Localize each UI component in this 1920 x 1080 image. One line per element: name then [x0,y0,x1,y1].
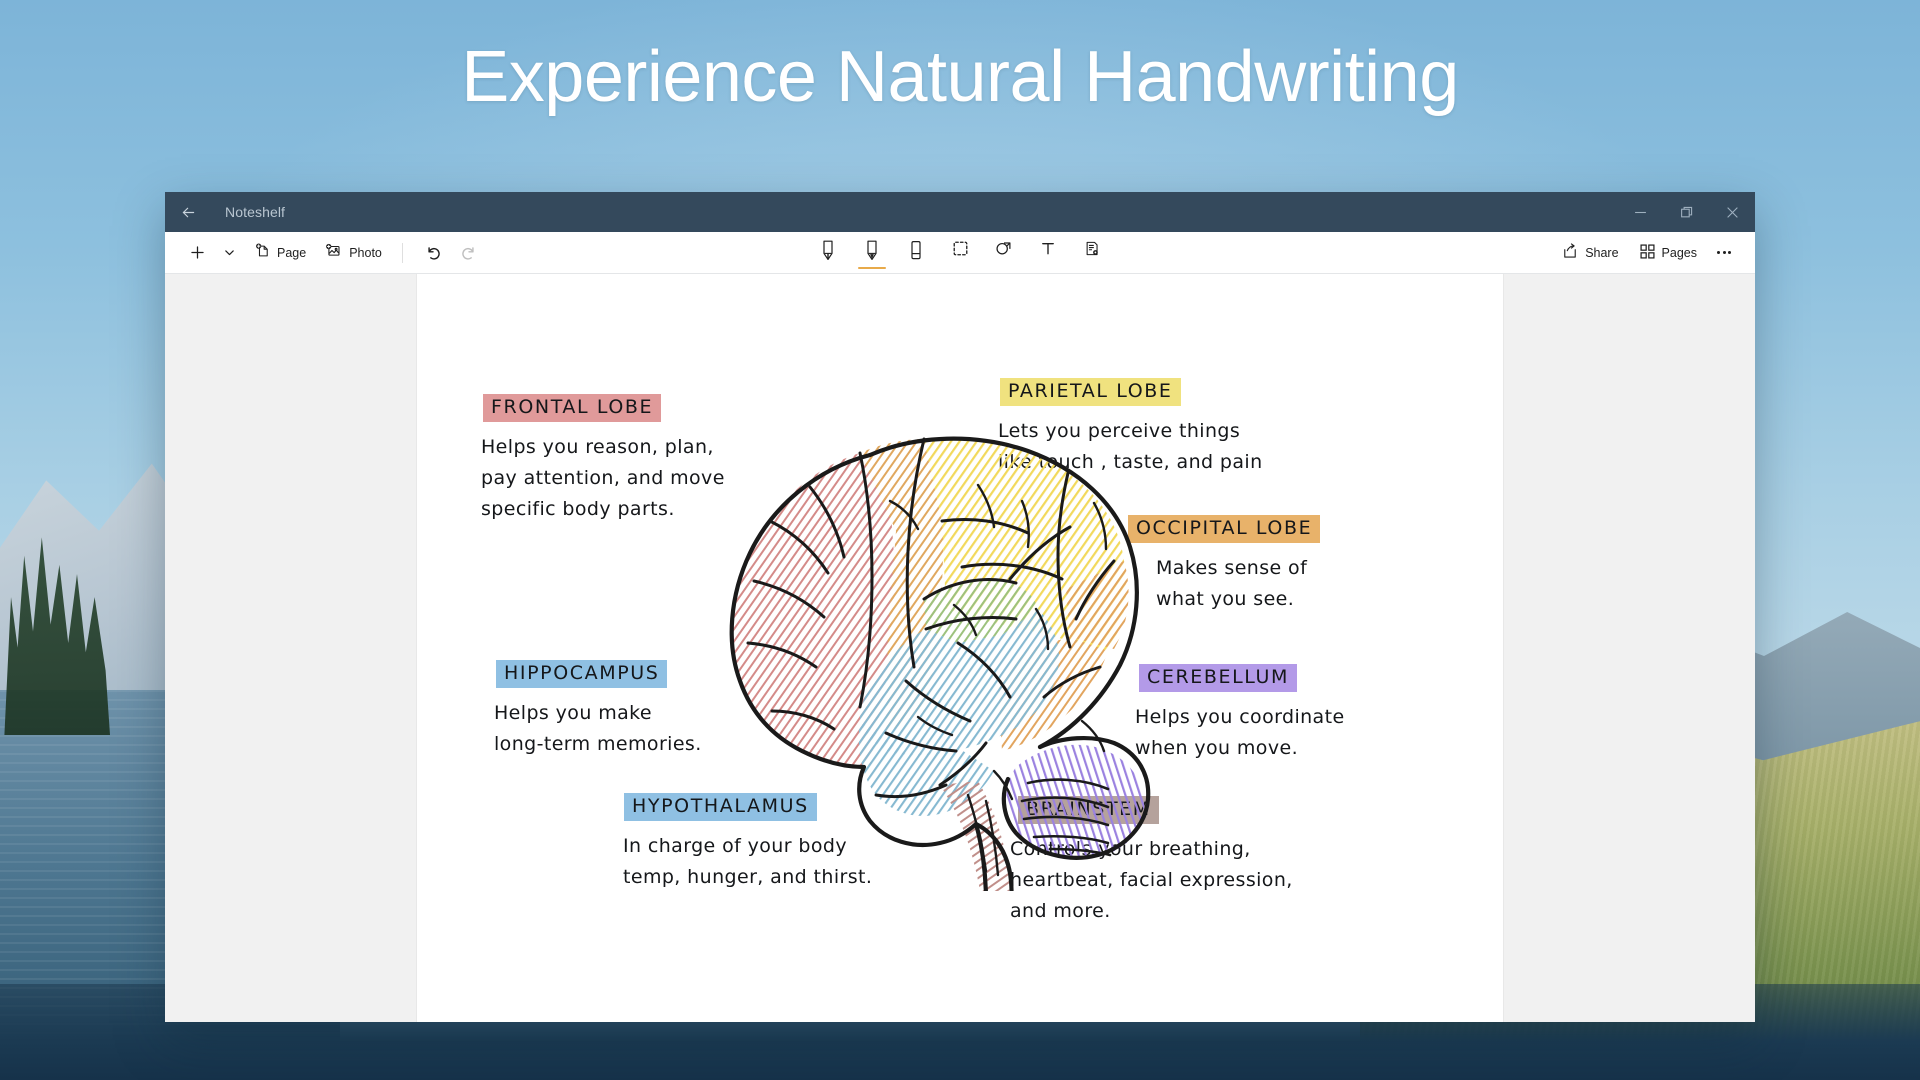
pages-label: Pages [1662,246,1697,260]
app-window: Noteshelf [165,192,1755,1022]
note-icon [1083,239,1101,263]
eraser-tool[interactable] [899,234,933,272]
highlighter-tool[interactable] [855,234,889,272]
add-button[interactable] [181,236,214,270]
canvas-area[interactable]: FRONTAL LOBE Helps you reason, plan, pay… [165,274,1755,1022]
label-frontal-lobe: FRONTAL LOBE [483,394,661,422]
redo-button[interactable] [452,236,487,270]
undo-button[interactable] [415,236,450,270]
lasso-select-icon [951,239,970,263]
toolbar-right-group: Share Pages [1553,236,1739,270]
brain-diagram [710,381,1210,891]
share-button[interactable]: Share [1553,236,1626,270]
add-page-button[interactable]: Page [245,236,314,270]
eraser-icon [908,239,924,270]
ellipsis-icon[interactable] [1709,236,1739,270]
toolbar-divider [402,243,403,263]
close-icon[interactable] [1709,192,1755,232]
window-title: Noteshelf [225,204,285,220]
pages-button[interactable]: Pages [1631,236,1705,270]
share-label: Share [1585,246,1618,260]
restore-icon[interactable] [1663,192,1709,232]
chevron-down-icon[interactable] [216,236,243,270]
page-title: Experience Natural Handwriting [0,38,1920,117]
pen-icon [820,239,836,270]
add-photo-button[interactable]: Photo [316,236,390,270]
drawing-tools-group [811,232,1109,274]
main-toolbar: Page Photo [165,232,1755,274]
shapes-icon [994,239,1014,263]
window-titlebar: Noteshelf [165,192,1755,232]
add-page-label: Page [277,246,306,260]
text-tool[interactable] [1031,234,1065,272]
lasso-select-tool[interactable] [943,234,977,272]
highlighter-icon [864,239,880,270]
minimize-icon[interactable] [1617,192,1663,232]
text-t-icon [1039,239,1057,263]
sticky-note-tool[interactable] [1075,234,1109,272]
toolbar-left-group: Page Photo [181,236,487,270]
add-page-icon [253,242,271,263]
add-photo-icon [324,242,343,263]
note-page[interactable]: FRONTAL LOBE Helps you reason, plan, pay… [417,274,1503,1022]
back-arrow-icon[interactable] [165,192,211,232]
label-hippocampus: HIPPOCAMPUS [496,660,667,688]
add-photo-label: Photo [349,246,382,260]
grid-icon [1639,243,1656,263]
shapes-tool[interactable] [987,234,1021,272]
pen-tool[interactable] [811,234,845,272]
share-icon [1561,242,1579,263]
